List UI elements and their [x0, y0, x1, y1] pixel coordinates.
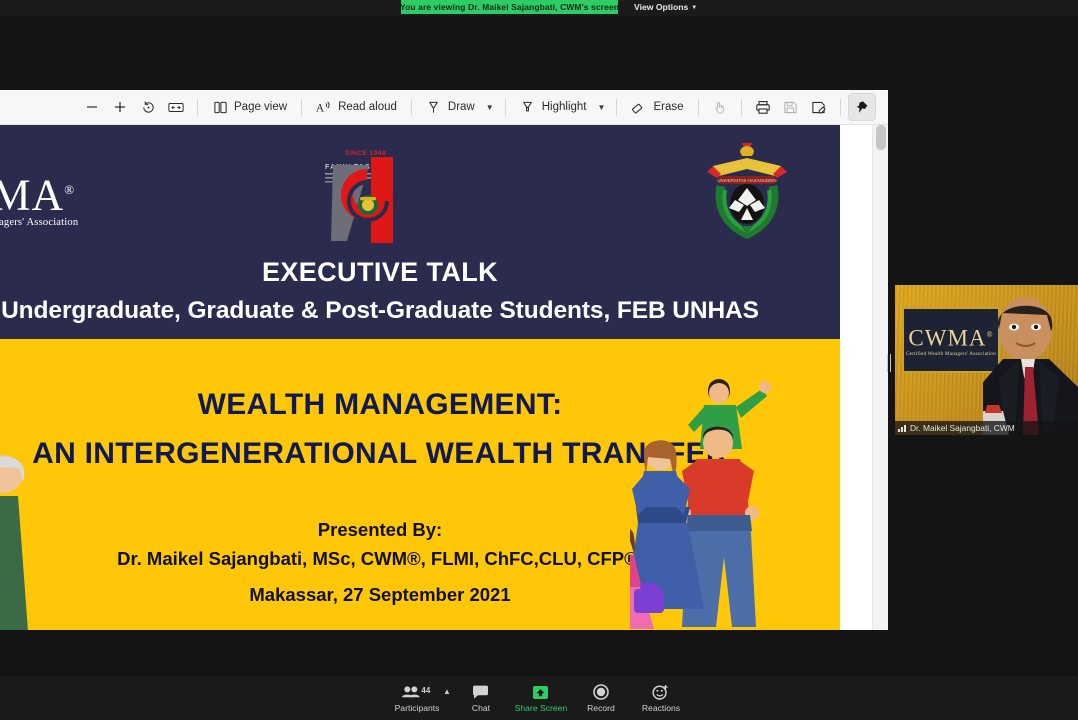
svg-text:UNIVERSITAS HASANUDDIN: UNIVERSITAS HASANUDDIN	[717, 178, 776, 183]
video-participant-tile[interactable]: CWMA® Certified Wealth Managers' Associa…	[895, 285, 1078, 435]
slide-audience-line: Undergraduate, Graduate & Post-Graduate …	[0, 297, 840, 325]
hand-touch-icon	[712, 99, 728, 115]
pen-icon	[426, 99, 442, 115]
record-icon	[593, 684, 609, 701]
svg-text:A: A	[316, 102, 325, 114]
view-options-label: View Options	[634, 2, 688, 12]
cwma-logo: WMA® Wealth Managers' Association	[0, 165, 122, 243]
read-aloud-icon: A	[316, 99, 332, 115]
presentation-slide: WMA® Wealth Managers' Association SINCE …	[0, 125, 840, 630]
pdf-document-area[interactable]: WMA® Wealth Managers' Association SINCE …	[0, 125, 888, 630]
eraser-icon	[631, 99, 647, 115]
scrollbar-thumb[interactable]	[876, 125, 886, 150]
toolbar-divider	[698, 99, 699, 116]
cwma-logo-mark: WMA	[0, 171, 64, 220]
rotate-icon	[140, 99, 156, 115]
pin-toolbar-button[interactable]	[848, 93, 876, 121]
record-button[interactable]: Record	[571, 678, 631, 718]
speaker-video-image	[983, 293, 1078, 435]
page-view-button[interactable]: Page view	[205, 93, 294, 121]
page-view-label: Page view	[234, 101, 287, 113]
participants-chevron-up-icon[interactable]: ▲	[443, 678, 451, 696]
share-screen-label: Share Screen	[515, 703, 568, 713]
record-label: Record	[587, 703, 615, 713]
print-button[interactable]	[749, 93, 777, 121]
pdf-page: WMA® Wealth Managers' Association SINCE …	[0, 125, 872, 630]
chat-icon	[472, 684, 489, 701]
participants-button[interactable]: 44 Participants	[387, 678, 447, 718]
reactions-button[interactable]: Reactions	[631, 678, 691, 718]
participants-group: 44 Participants ▲	[387, 678, 451, 718]
erase-label: Erase	[653, 101, 683, 113]
svg-text:SINCE 1948: SINCE 1948	[345, 150, 386, 157]
draw-button[interactable]: Draw	[419, 93, 482, 121]
fit-to-width-button[interactable]	[162, 93, 190, 121]
save-as-icon	[811, 99, 827, 115]
plus-icon	[112, 99, 128, 115]
reactions-label: Reactions	[642, 703, 680, 713]
pdf-vertical-scrollbar[interactable]: ▲	[872, 125, 888, 630]
touch-writing-button[interactable]	[706, 93, 734, 121]
page-view-icon	[212, 99, 228, 115]
cwma-logo-registered: ®	[64, 182, 75, 197]
erase-button[interactable]: Erase	[624, 93, 690, 121]
chat-label: Chat	[472, 703, 490, 713]
print-icon	[755, 99, 771, 115]
zoom-control-bar: 44 Participants ▲ Chat Share Screen	[0, 676, 1078, 720]
zoom-top-banner: You are viewing Dr. Maikel Sajangbati, C…	[0, 0, 1078, 16]
signal-strength-icon	[898, 424, 906, 432]
pin-icon	[854, 99, 870, 115]
draw-label: Draw	[448, 101, 475, 113]
toolbar-divider	[197, 99, 198, 116]
slide-heading: EXECUTIVE TALK	[0, 257, 840, 288]
draw-options-chevron-down-icon[interactable]: ▼	[482, 94, 498, 120]
chat-button[interactable]: Chat	[451, 678, 511, 718]
highlight-button[interactable]: Highlight	[513, 93, 594, 121]
highlighter-icon	[520, 99, 536, 115]
reactions-icon	[652, 684, 669, 701]
fit-to-width-icon	[168, 99, 184, 115]
zoom-out-button[interactable]	[78, 93, 106, 121]
highlight-label: Highlight	[542, 101, 587, 113]
view-options-button[interactable]: View Options ▼	[634, 0, 697, 14]
anniversary-73-logo: SINCE 1948 FAKULTAS	[313, 143, 413, 249]
save-disk-icon	[783, 99, 799, 115]
toolbar-divider	[741, 99, 742, 116]
rotate-button[interactable]	[134, 93, 162, 121]
chevron-down-icon: ▼	[691, 5, 697, 11]
family-illustration	[630, 355, 790, 630]
zoom-in-button[interactable]	[106, 93, 134, 121]
shared-screen-window: Page view A Read aloud Draw	[0, 90, 888, 630]
participants-label: Participants	[395, 703, 440, 713]
save-as-button[interactable]	[805, 93, 833, 121]
window-resize-handle[interactable]	[886, 352, 892, 374]
minus-icon	[84, 99, 100, 115]
share-screen-button[interactable]: Share Screen	[511, 678, 571, 718]
share-screen-icon	[532, 684, 549, 701]
participants-icon: 44	[402, 684, 432, 701]
toolbar-divider	[301, 99, 302, 116]
toolbar-divider	[840, 99, 841, 116]
viewing-screen-banner: You are viewing Dr. Maikel Sajangbati, C…	[401, 0, 618, 14]
video-name-bar: Dr. Maikel Sajangbati, CWM	[895, 421, 1078, 435]
read-aloud-button[interactable]: A Read aloud	[309, 93, 404, 121]
read-aloud-label: Read aloud	[338, 101, 397, 113]
save-button[interactable]	[777, 93, 805, 121]
unhas-emblem-icon: UNIVERSITAS HASANUDDIN	[695, 142, 799, 242]
video-participant-name: Dr. Maikel Sajangbati, CWM	[910, 423, 1015, 433]
plaque-mark: CWMA	[908, 325, 986, 350]
svg-text:44: 44	[421, 686, 430, 695]
pdf-viewer-toolbar: Page view A Read aloud Draw	[0, 90, 888, 125]
highlight-options-chevron-down-icon[interactable]: ▼	[593, 94, 609, 120]
toolbar-divider	[616, 99, 617, 116]
toolbar-divider	[411, 99, 412, 116]
elderly-person-illustration	[0, 450, 38, 630]
toolbar-divider	[505, 99, 506, 116]
